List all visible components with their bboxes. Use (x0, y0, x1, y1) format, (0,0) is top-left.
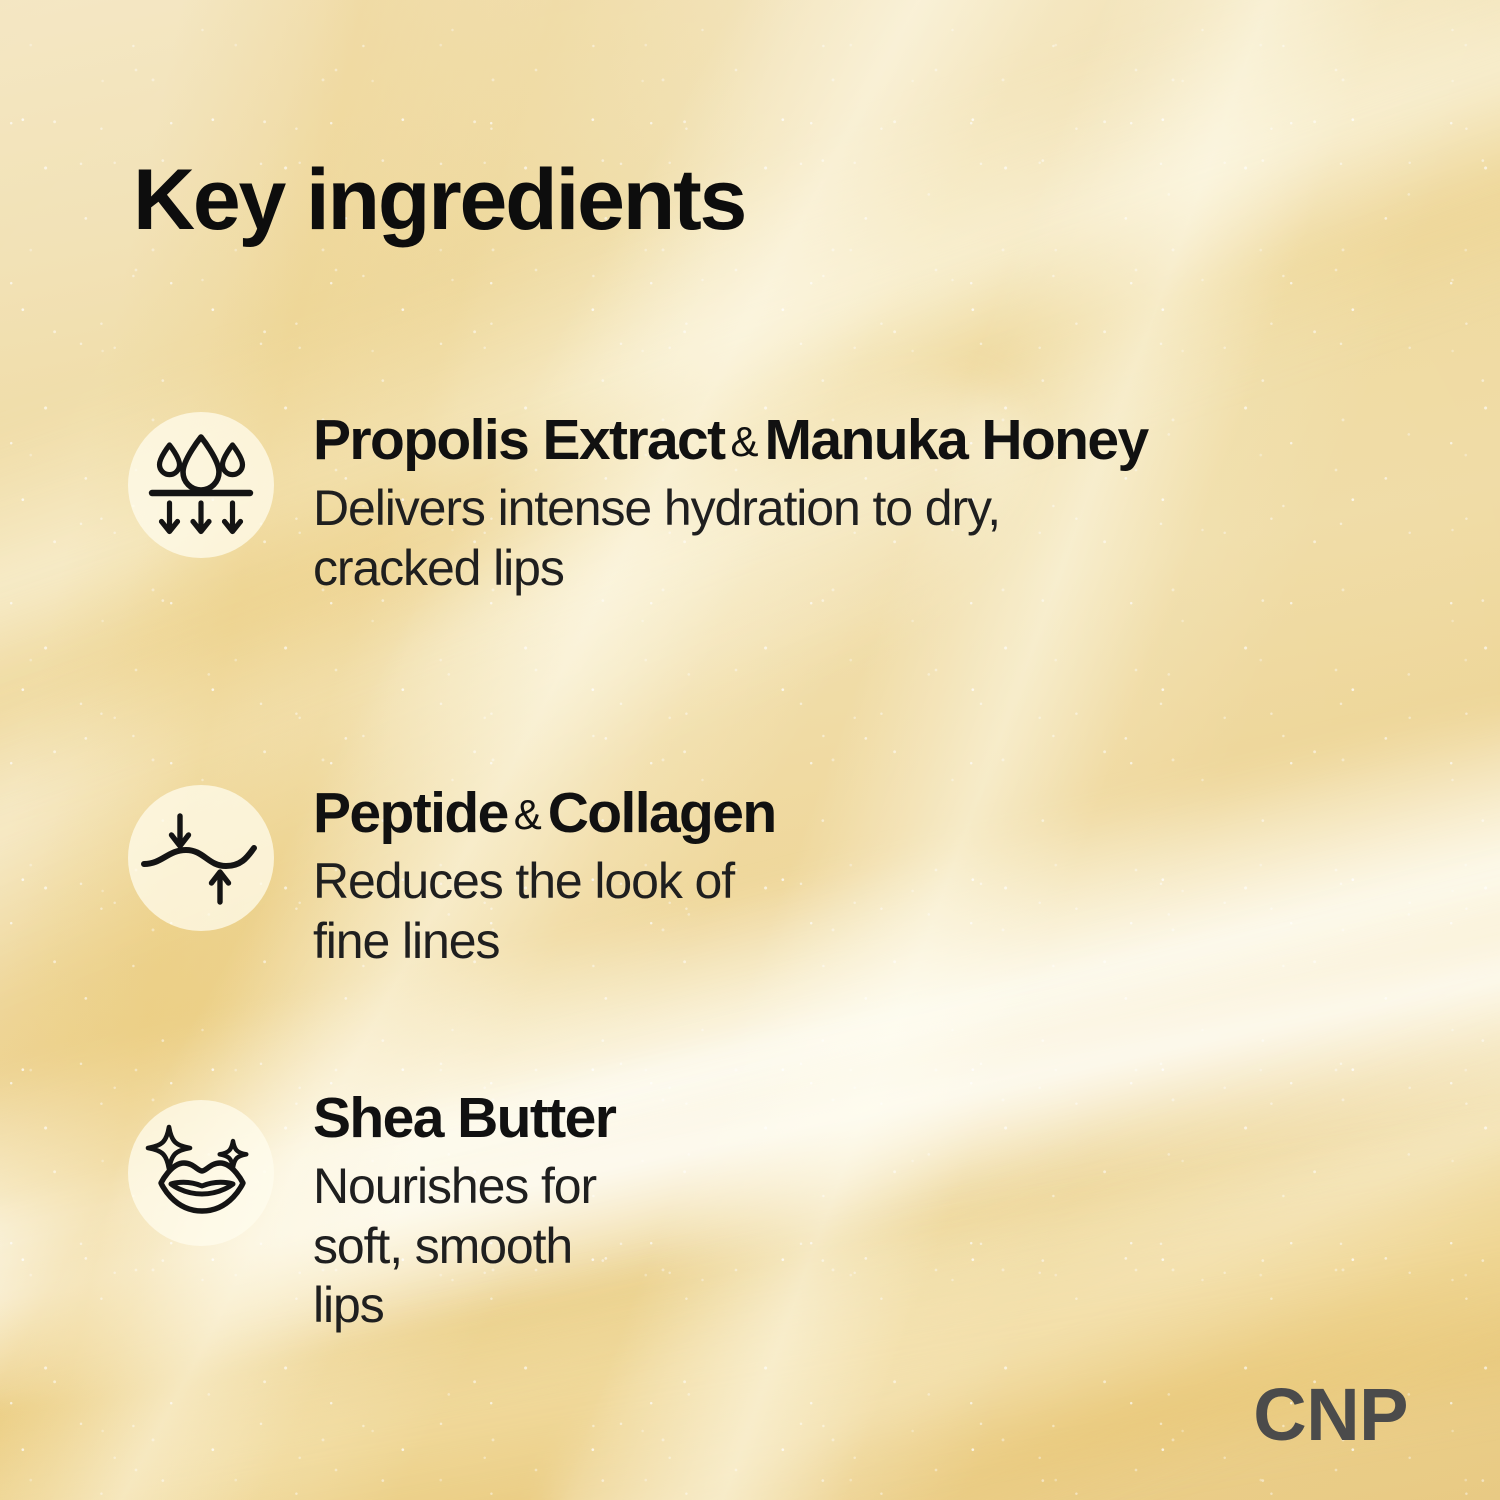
ingredient-text-peptide: Peptide&Collagen Reduces the look of fin… (313, 783, 776, 971)
hydration-droplets-absorb-icon (128, 412, 274, 558)
key-ingredients-card: Key ingredients (0, 0, 1500, 1500)
ingredient-name-secondary: Manuka Honey (765, 408, 1148, 472)
ingredient-description: Nourishes for soft, smooth lips (313, 1157, 615, 1336)
ingredient-text-propolis: Propolis Extract&Manuka Honey Delivers i… (313, 410, 1148, 598)
ingredient-name-primary: Shea Butter (313, 1086, 615, 1150)
ingredient-conjunction: & (725, 418, 765, 465)
ingredient-name-primary: Propolis Extract (313, 408, 725, 472)
ingredient-name: Peptide&Collagen (313, 783, 776, 843)
brand-logo: CNP (1253, 1378, 1408, 1452)
ingredient-conjunction: & (508, 791, 548, 838)
ingredient-text-shea-butter: Shea Butter Nourishes for soft, smooth l… (313, 1088, 615, 1336)
ingredient-description: Reduces the look of fine lines (313, 852, 776, 971)
ingredient-name: Propolis Extract&Manuka Honey (313, 410, 1148, 470)
wrinkle-smoothing-wave-icon (128, 785, 274, 931)
sparkling-lips-icon (128, 1100, 274, 1246)
ingredient-name-primary: Peptide (313, 781, 508, 845)
page-title: Key ingredients (133, 157, 745, 243)
ingredient-name: Shea Butter (313, 1088, 615, 1148)
ingredient-description: Delivers intense hydration to dry, crack… (313, 479, 1148, 598)
ingredient-name-secondary: Collagen (548, 781, 776, 845)
